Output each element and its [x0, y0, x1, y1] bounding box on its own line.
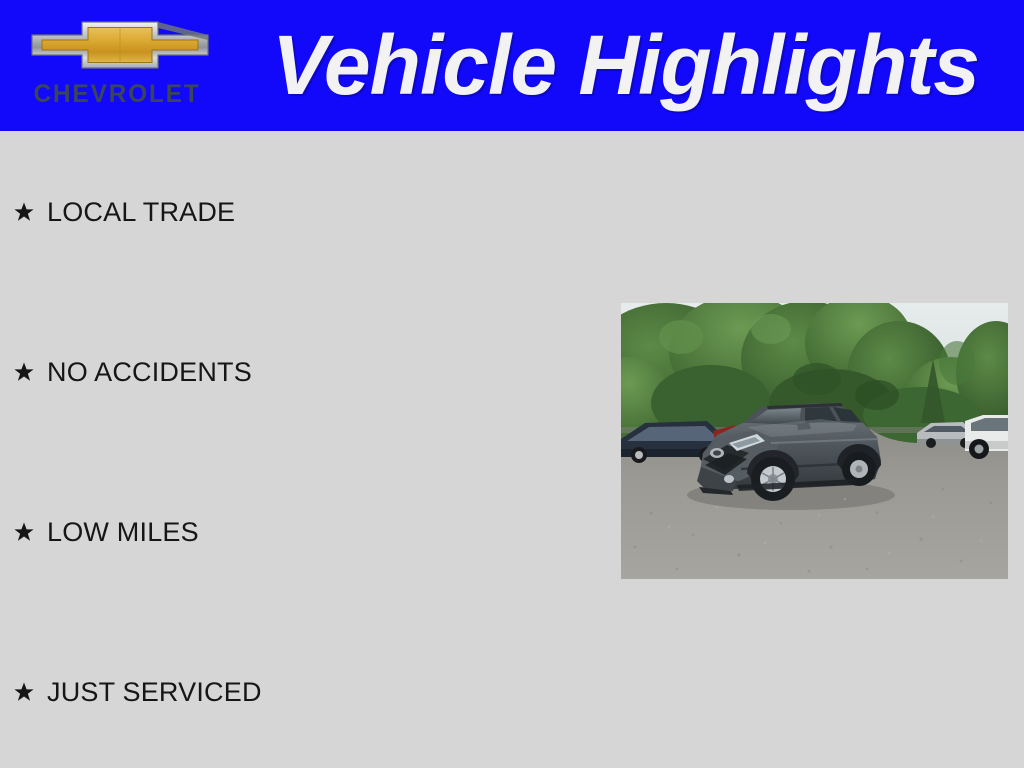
- page-title: Vehicle Highlights: [272, 13, 1014, 117]
- highlights-list: LOCAL TRADE NO ACCIDENTS LOW MILES: [0, 131, 600, 768]
- star-icon: [14, 521, 34, 543]
- list-item: LOCAL TRADE: [14, 192, 235, 232]
- star-icon: [14, 681, 34, 703]
- chevrolet-wordmark: CHEVROLET: [24, 80, 210, 108]
- list-item-label: LOW MILES: [47, 516, 199, 548]
- star-icon: [14, 201, 34, 223]
- list-item-label: LOCAL TRADE: [47, 196, 235, 228]
- list-item-label: NO ACCIDENTS: [47, 356, 252, 388]
- list-item-label: JUST SERVICED: [47, 676, 262, 708]
- star-icon: [14, 361, 34, 383]
- chevrolet-logo: CHEVROLET: [22, 14, 218, 118]
- list-item: LOW MILES: [14, 512, 199, 552]
- vehicle-photo: [621, 303, 1008, 579]
- list-item: JUST SERVICED: [14, 672, 262, 712]
- header-bar: CHEVROLET Vehicle Highlights: [0, 0, 1024, 131]
- chevrolet-bowtie-icon: [22, 14, 218, 76]
- list-item: NO ACCIDENTS: [14, 352, 252, 392]
- vehicle-highlights-slide: CHEVROLET Vehicle Highlights LOCAL TRADE…: [0, 0, 1024, 768]
